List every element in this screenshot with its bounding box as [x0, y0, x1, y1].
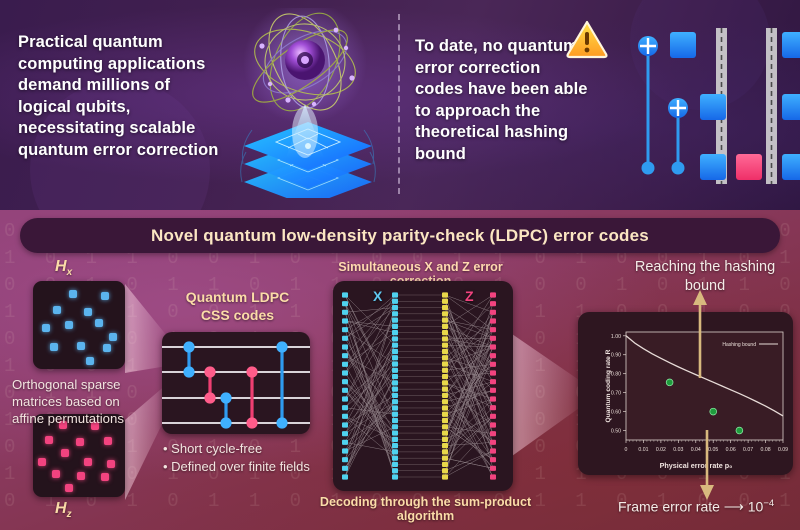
- svg-text:0.06: 0.06: [726, 447, 736, 453]
- hz-matrix-label: Hz: [55, 500, 72, 520]
- qldpc-css-title: Quantum LDPC CSS codes: [160, 288, 315, 324]
- code-properties-list: Short cycle-free Defined over finite fie…: [163, 440, 338, 476]
- chart-xlabel: Physical error rate p₀: [660, 461, 733, 470]
- svg-text:Hashing bound: Hashing bound: [722, 342, 756, 348]
- panel-divider: [398, 14, 400, 194]
- svg-text:0.03: 0.03: [673, 447, 683, 453]
- svg-text:0.01: 0.01: [638, 447, 648, 453]
- css-code-circuit: [162, 332, 310, 434]
- hashing-bound-chart-card: 00.010.020.030.040.050.060.070.080.091.0…: [578, 312, 793, 475]
- tanner-z-label: Z: [465, 288, 474, 304]
- banner-title: Novel quantum low-density parity-check (…: [151, 226, 649, 246]
- svg-text:0.09: 0.09: [778, 447, 788, 453]
- lead-statement-left: Practical quantum computing applications…: [18, 32, 223, 161]
- svg-text:0.60: 0.60: [611, 410, 621, 416]
- svg-text:0.50: 0.50: [611, 429, 621, 435]
- svg-text:1.00: 1.00: [611, 334, 621, 340]
- section-banner: Novel quantum low-density parity-check (…: [20, 218, 780, 253]
- svg-text:0.70: 0.70: [611, 391, 621, 397]
- orthogonal-matrices-caption: Orthogonal sparse matrices based on affi…: [12, 376, 147, 427]
- svg-text:0.07: 0.07: [743, 447, 753, 453]
- svg-text:0.08: 0.08: [761, 447, 771, 453]
- quantum-circuit-icon: [600, 20, 800, 195]
- hashing-bound-chart: 00.010.020.030.040.050.060.070.080.091.0…: [578, 312, 793, 475]
- hx-matrix-label: Hx: [55, 258, 72, 278]
- hx-sparse-matrix: [33, 281, 125, 369]
- svg-text:0: 0: [625, 447, 628, 453]
- svg-text:0.80: 0.80: [611, 372, 621, 378]
- warning-triangle-icon: [565, 18, 609, 60]
- tanner-graph: [333, 281, 513, 491]
- quantum-atom-icon: [228, 8, 388, 204]
- up-arrow-icon: [690, 288, 710, 378]
- tanner-x-label: X: [373, 288, 382, 304]
- list-item: Short cycle-free: [163, 440, 338, 458]
- qldpc-title-line2: CSS codes: [160, 306, 315, 324]
- list-item: Defined over finite fields: [163, 458, 338, 476]
- decoding-caption: Decoding through the sum-product algorit…: [318, 495, 533, 523]
- svg-text:0.90: 0.90: [611, 353, 621, 359]
- down-arrow-icon: [697, 430, 717, 502]
- qldpc-title-line1: Quantum LDPC: [160, 288, 315, 306]
- svg-text:0.02: 0.02: [656, 447, 666, 453]
- tanner-to-chart-connector: [508, 330, 586, 460]
- chart-ylabel: Quantum coding rate R: [605, 349, 612, 422]
- infographic-root: Practical quantum computing applications…: [0, 0, 800, 530]
